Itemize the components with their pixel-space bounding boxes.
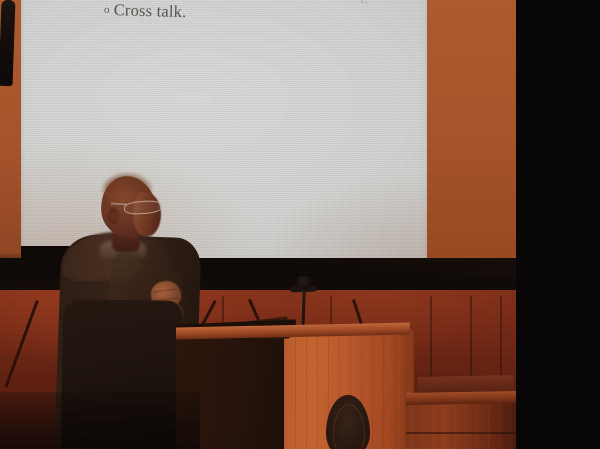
- gooseneck-mic-head: [297, 276, 311, 289]
- presentation-photo: oCross talk. l.: [0, 0, 600, 449]
- slide-bullet-item: oCross talk.: [104, 0, 187, 22]
- speaker-ear: [108, 208, 119, 224]
- wall-seam: [470, 296, 472, 384]
- wall-seam: [500, 296, 502, 380]
- wall-panel-right: [426, 0, 520, 286]
- projection-screen: [21, 0, 427, 268]
- screen-light-spill: [21, 0, 427, 268]
- slide-bullet-label: Cross talk.: [113, 0, 186, 21]
- screen-texture: [21, 0, 427, 268]
- speaker-lower-jacket: [61, 299, 184, 449]
- slide-bullet-glyph: o: [104, 4, 110, 16]
- table-front-panel: [406, 400, 516, 449]
- table-top-surface: [406, 391, 516, 405]
- dark-room-area: [516, 0, 600, 449]
- table-edge: [406, 432, 516, 434]
- slide-cropped-text: l.: [360, 0, 369, 8]
- table-wood-grain: [406, 400, 516, 449]
